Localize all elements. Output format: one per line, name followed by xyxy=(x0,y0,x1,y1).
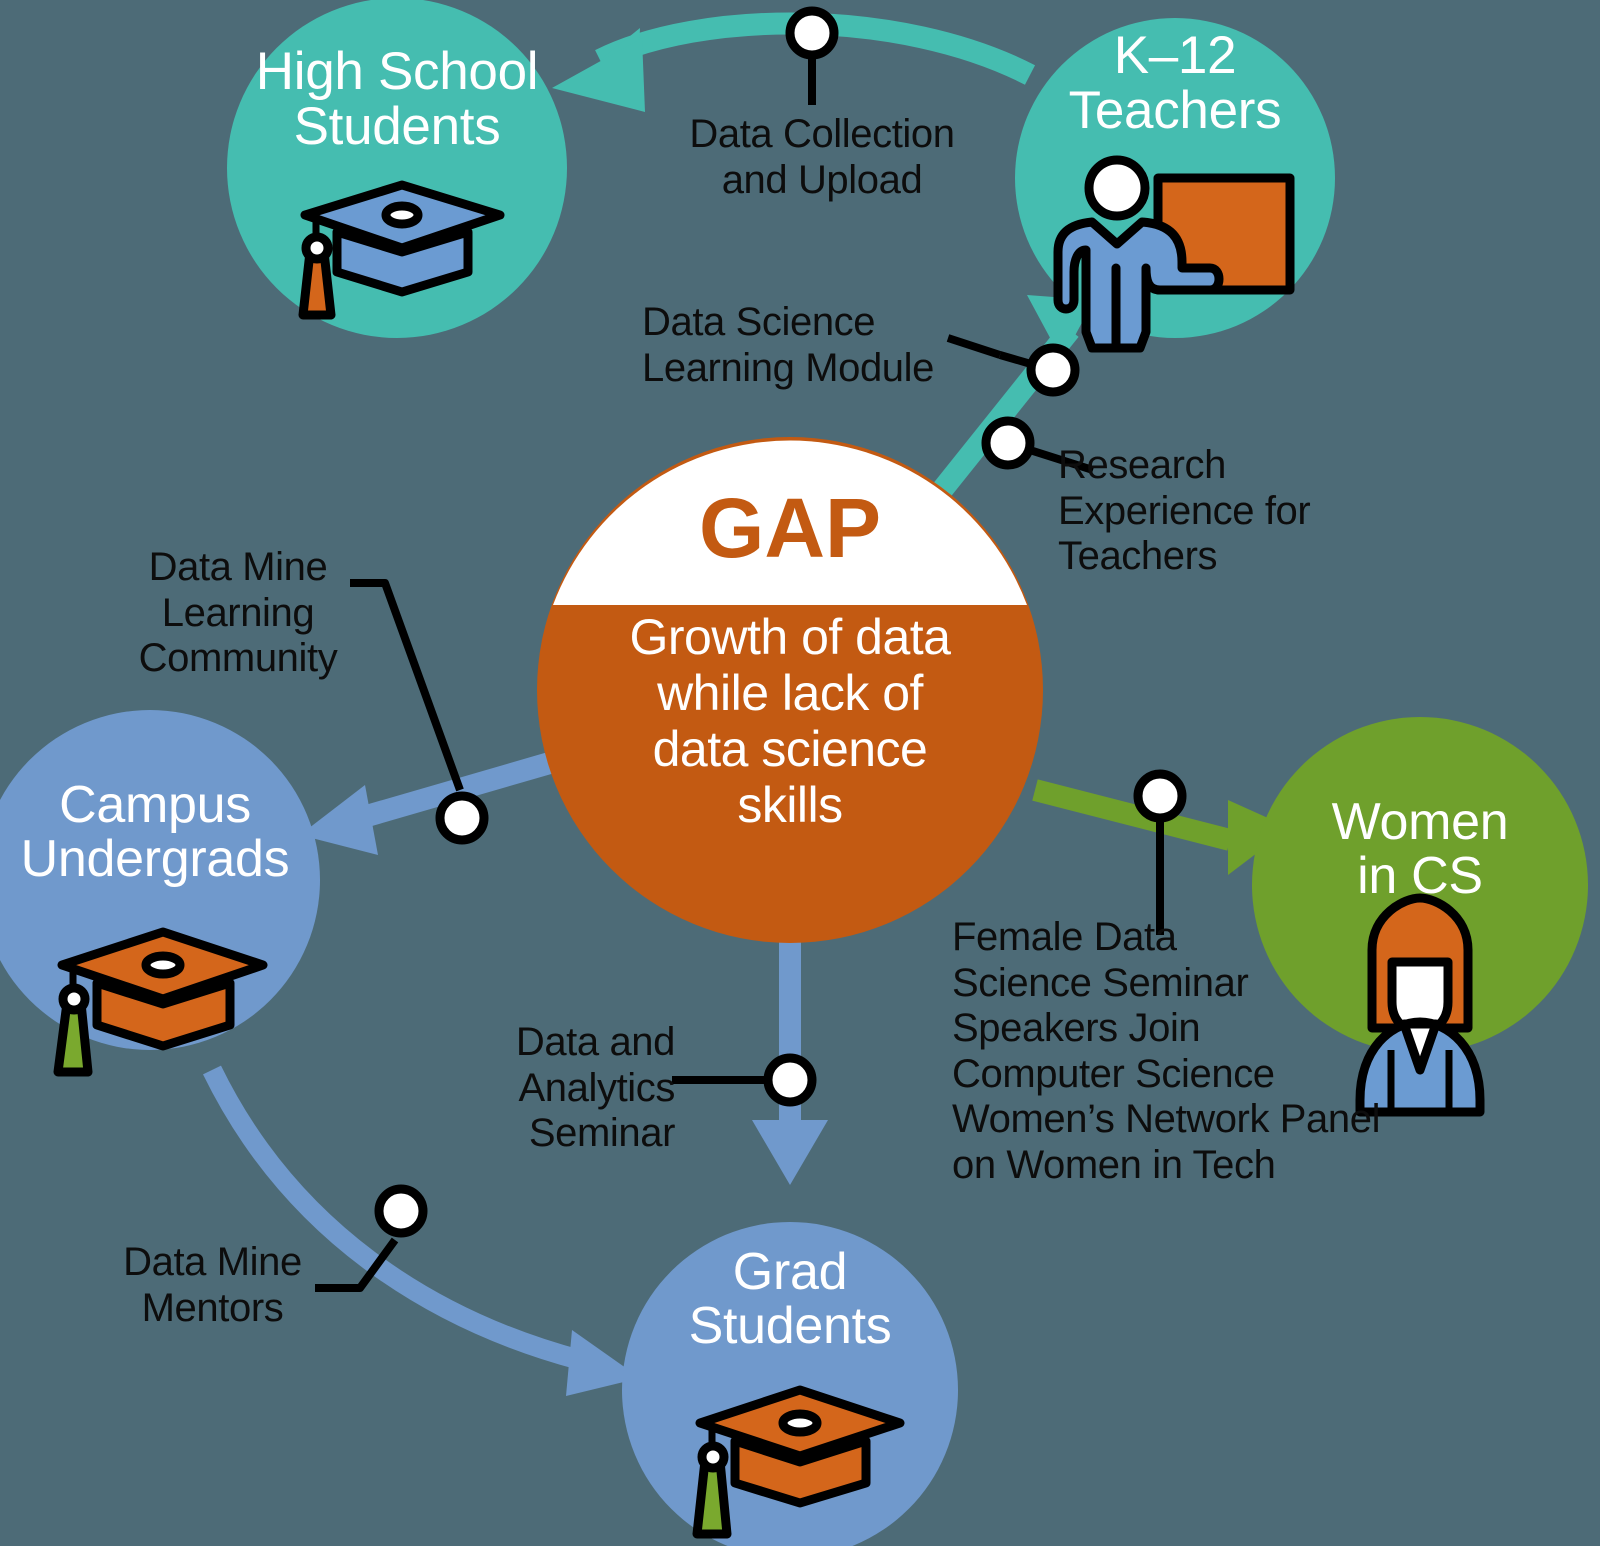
callout-research-experience-for-teachers: Research Experience for Teachers xyxy=(1058,443,1348,580)
callout-data-mine-learning-community: Data Mine Learning Community xyxy=(128,545,348,682)
callout-data-mine-mentors: Data Mine Mentors xyxy=(110,1240,315,1331)
gap-description: Growth of data while lack of data scienc… xyxy=(537,609,1043,833)
callout-data-and-analytics-seminar: Data and Analytics Seminar xyxy=(460,1020,675,1157)
gap-center-text: GAP Growth of data while lack of data sc… xyxy=(537,480,1043,801)
callout-data-science-learning-module: Data Science Learning Module xyxy=(642,300,942,391)
leader-female-data-science-seminar xyxy=(1138,774,1182,935)
page-title: GAP xyxy=(537,480,1043,577)
leader-data-mine-learning-community xyxy=(350,583,484,840)
leader-data-science-learning-module xyxy=(948,338,1075,392)
leader-data-collection-and-upload xyxy=(790,11,834,105)
callout-data-collection-and-upload: Data Collection and Upload xyxy=(672,112,972,203)
leader-data-and-analytics-seminar xyxy=(672,1058,812,1102)
callout-female-data-science-seminar: Female Data Science Seminar Speakers Joi… xyxy=(952,915,1402,1189)
leader-data-mine-mentors xyxy=(315,1189,423,1288)
diagram-canvas: High School Students K–12 Teachers Campu… xyxy=(0,0,1600,1546)
